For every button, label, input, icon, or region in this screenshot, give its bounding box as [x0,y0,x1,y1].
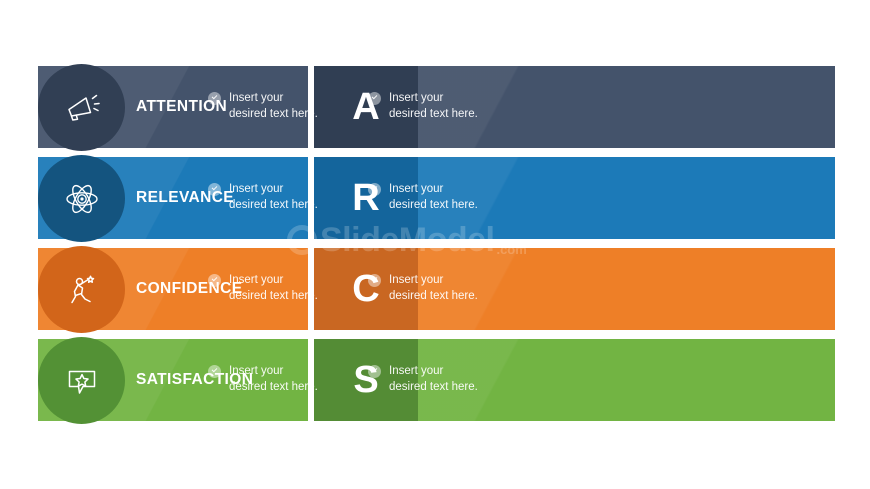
bullet-satisfaction-1: Insert your desired text here. [208,363,318,395]
arcs-row-satisfaction[interactable]: SATISFACTION S Insert your desired text … [38,339,835,421]
bullet-satisfaction-2: Insert your desired text here. [368,363,478,395]
bullet-attention-2: Insert your desired text here. [368,90,478,122]
bullet-text: Insert your desired text here. [229,181,318,213]
bullet-attention-1: Insert your desired text here. [208,90,318,122]
bullet-text: Insert your desired text here. [389,363,478,395]
check-circle-icon [368,183,381,196]
check-circle-icon [208,274,221,287]
bullet-text: Insert your desired text here. [229,363,318,395]
icon-circle-relevance[interactable] [38,155,125,242]
icon-circle-attention[interactable] [38,64,125,151]
atom-icon [60,177,104,221]
bullet-text: Insert your desired text here. [229,272,318,304]
bullet-relevance-1: Insert your desired text here. [208,181,318,213]
bullet-text: Insert your desired text here. [229,90,318,122]
check-circle-icon [368,92,381,105]
speech-bubble-star-icon [60,359,104,403]
bullet-text: Insert your desired text here. [389,181,478,213]
check-circle-icon [368,365,381,378]
bullet-text: Insert your desired text here. [389,90,478,122]
megaphone-icon [60,86,104,130]
bullet-relevance-2: Insert your desired text here. [368,181,478,213]
arcs-row-attention[interactable]: ATTENTION A Insert your desired text her… [38,66,835,148]
bullet-confidence-1: Insert your desired text here. [208,272,318,304]
check-circle-icon [208,183,221,196]
arcs-row-confidence[interactable]: CONFIDENCE C Insert your desired text [38,248,835,330]
check-circle-icon [368,274,381,287]
slide-canvas: ATTENTION A Insert your desired text her… [0,0,870,489]
check-circle-icon [208,365,221,378]
person-reaching-star-icon [60,268,104,312]
check-circle-icon [208,92,221,105]
bullet-text: Insert your desired text here. [389,272,478,304]
arcs-row-relevance[interactable]: RELEVANCE R Insert your desired text her… [38,157,835,239]
icon-circle-confidence[interactable] [38,246,125,333]
bullet-confidence-2: Insert your desired text here. [368,272,478,304]
icon-circle-satisfaction[interactable] [38,337,125,424]
